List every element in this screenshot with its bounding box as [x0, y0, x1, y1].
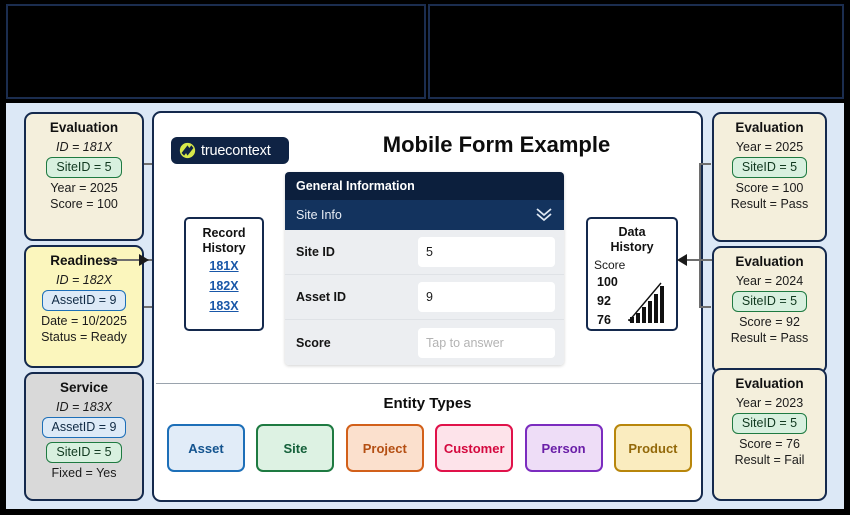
- left-card-readiness-182x[interactable]: Readiness ID = 182X AssetID = 9 Date = 1…: [24, 245, 144, 368]
- card-line-id: ID = 182X: [56, 272, 112, 288]
- truecontext-mark-icon: [179, 142, 196, 159]
- entity-types-heading: Entity Types: [154, 395, 701, 412]
- entity-chip-person[interactable]: Person: [525, 424, 603, 472]
- card-line-result: Result = Fail: [735, 452, 805, 468]
- card-line-score: Score = 100: [50, 196, 118, 212]
- card-line-score: Score = 100: [736, 180, 804, 196]
- data-history-body: Score 100 92 76: [588, 255, 676, 331]
- data-history-value-92: 92: [597, 294, 611, 308]
- card-line-year: Year = 2023: [736, 395, 803, 411]
- pill-assetid: AssetID = 9: [42, 290, 127, 311]
- pill-siteid: SiteID = 5: [732, 157, 807, 178]
- card-line-status: Status = Ready: [41, 329, 127, 345]
- entity-types-row: Asset Site Project Customer Person Produ…: [167, 424, 692, 472]
- card-line-result: Result = Pass: [731, 330, 808, 346]
- truecontext-logo: truecontext: [171, 137, 289, 164]
- field-label-asset-id: Asset ID: [296, 290, 418, 304]
- card-title: Evaluation: [735, 119, 803, 136]
- pill-assetid: AssetID = 9: [42, 417, 127, 438]
- growth-bar-chart-icon: [628, 281, 671, 325]
- right-card-evaluation-2024[interactable]: Evaluation Year = 2024 SiteID = 5 Score …: [712, 246, 827, 374]
- card-title: Readiness: [50, 252, 118, 269]
- form-row-asset-id: Asset ID 9: [285, 275, 564, 320]
- pill-siteid: SiteID = 5: [46, 157, 121, 178]
- page-title: Mobile Form Example: [304, 132, 689, 158]
- form-subsection-site-info[interactable]: Site Info: [285, 200, 564, 230]
- card-line-year: Year = 2025: [50, 180, 117, 196]
- data-history-title-line2: History: [588, 240, 676, 255]
- field-label-score: Score: [296, 336, 418, 350]
- connector-right-v1: [699, 163, 701, 260]
- card-line-score: Score = 92: [739, 314, 800, 330]
- field-input-score[interactable]: Tap to answer: [418, 328, 555, 358]
- record-history-link-181x[interactable]: 181X: [209, 257, 238, 276]
- record-history-title-line1: Record: [202, 226, 245, 241]
- data-history-value-100: 100: [597, 275, 618, 289]
- pill-siteid: SiteID = 5: [732, 291, 807, 312]
- entity-chip-product[interactable]: Product: [614, 424, 692, 472]
- data-history-title-line1: Data: [588, 225, 676, 240]
- left-card-evaluation-181x[interactable]: Evaluation ID = 181X SiteID = 5 Year = 2…: [24, 112, 144, 241]
- form-header: truecontext Mobile Form Example: [154, 113, 701, 171]
- card-line-fixed: Fixed = Yes: [52, 465, 117, 481]
- logo-wordmark: truecontext: [201, 143, 271, 159]
- pill-siteid: SiteID = 5: [732, 413, 807, 434]
- record-history-link-182x[interactable]: 182X: [209, 277, 238, 296]
- form-row-site-id: Site ID 5: [285, 230, 564, 275]
- card-line-id: ID = 181X: [56, 139, 112, 155]
- connector-right-1: [699, 163, 711, 165]
- card-line-date: Date = 10/2025: [41, 313, 127, 329]
- entity-types-divider: [156, 383, 701, 384]
- entity-chip-asset[interactable]: Asset: [167, 424, 245, 472]
- data-history-box: Data History Score 100 92 76: [586, 217, 678, 331]
- pill-siteid: SiteID = 5: [46, 442, 121, 463]
- card-title: Service: [60, 379, 108, 396]
- card-title: Evaluation: [50, 119, 118, 136]
- connector-right-4: [699, 259, 713, 261]
- right-card-evaluation-2023[interactable]: Evaluation Year = 2023 SiteID = 5 Score …: [712, 368, 827, 501]
- mobile-form-panel: truecontext Mobile Form Example Record H…: [152, 111, 703, 502]
- record-history-box: Record History 181X 182X 183X: [184, 217, 264, 331]
- card-title: Evaluation: [735, 375, 803, 392]
- card-line-year: Year = 2024: [736, 273, 803, 289]
- form-subsection-label: Site Info: [296, 208, 342, 222]
- card-line-id: ID = 183X: [56, 399, 112, 415]
- chevron-double-down-icon[interactable]: [534, 206, 554, 224]
- card-title: Evaluation: [735, 253, 803, 270]
- record-history-title-line2: History: [202, 241, 245, 256]
- entity-chip-project[interactable]: Project: [346, 424, 424, 472]
- diagram-canvas: Evaluation ID = 181X SiteID = 5 Year = 2…: [6, 103, 844, 509]
- screenshot-root: Evaluation ID = 181X SiteID = 5 Year = 2…: [0, 0, 850, 515]
- card-line-score: Score = 76: [739, 436, 800, 452]
- entity-chip-customer[interactable]: Customer: [435, 424, 513, 472]
- field-input-asset-id[interactable]: 9: [418, 282, 555, 312]
- data-history-value-76: 76: [597, 313, 611, 327]
- connector-right-5: [687, 259, 701, 261]
- connector-right-2: [699, 306, 711, 308]
- form-row-score: Score Tap to answer: [285, 320, 564, 365]
- entity-chip-site[interactable]: Site: [256, 424, 334, 472]
- right-to-center-arrow: [677, 254, 687, 266]
- field-input-site-id[interactable]: 5: [418, 237, 555, 267]
- top-band: [0, 0, 850, 103]
- left-to-center-arrow: [139, 254, 149, 266]
- general-information-form: General Information Site Info Site ID 5: [285, 172, 564, 365]
- form-section-header: General Information: [285, 172, 564, 200]
- card-line-result: Result = Pass: [731, 196, 808, 212]
- record-history-link-183x[interactable]: 183X: [209, 297, 238, 316]
- left-card-service-183x[interactable]: Service ID = 183X AssetID = 9 SiteID = 5…: [24, 372, 144, 501]
- field-label-site-id: Site ID: [296, 245, 418, 259]
- data-history-metric-label: Score: [594, 258, 625, 272]
- right-card-evaluation-2025[interactable]: Evaluation Year = 2025 SiteID = 5 Score …: [712, 112, 827, 242]
- top-right-panel: [428, 4, 844, 99]
- top-left-panel: [6, 4, 426, 99]
- connector-right-v2: [699, 259, 701, 307]
- card-line-year: Year = 2025: [736, 139, 803, 155]
